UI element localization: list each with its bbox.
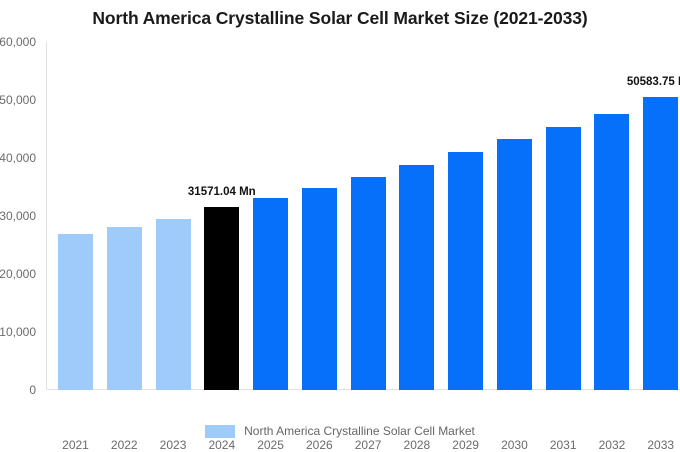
bar-2024[interactable] (204, 207, 239, 390)
y-axis-tick-label: 40,000 (0, 151, 36, 165)
y-axis-tick-label: 50,000 (0, 93, 36, 107)
y-axis-tick-label: 60,000 (0, 35, 36, 49)
bar-2027[interactable] (351, 177, 386, 390)
y-axis-tick-label: 30,000 (0, 209, 36, 223)
legend-label: North America Crystalline Solar Cell Mar… (244, 424, 475, 438)
bar-2033[interactable] (643, 97, 678, 390)
legend-swatch-icon (205, 425, 235, 438)
chart-legend: North America Crystalline Solar Cell Mar… (0, 424, 680, 438)
bar-2022[interactable] (107, 227, 142, 390)
bar-2021[interactable] (58, 234, 93, 390)
bar-2030[interactable] (497, 139, 532, 390)
bar-2029[interactable] (448, 152, 483, 390)
plot-area: 31571.04 Mn50583.75 Mn 20212022202320242… (46, 42, 680, 390)
bar-2025[interactable] (253, 198, 288, 390)
bar-2031[interactable] (546, 127, 581, 390)
value-label-2024: 31571.04 Mn (188, 186, 256, 198)
bar-2026[interactable] (302, 188, 337, 390)
y-axis-tick-label: 10,000 (0, 325, 36, 339)
bar-2023[interactable] (156, 219, 191, 390)
chart-title: North America Crystalline Solar Cell Mar… (0, 8, 680, 29)
y-axis-tick-label: 20,000 (0, 267, 36, 281)
chart-container: North America Crystalline Solar Cell Mar… (0, 0, 680, 450)
value-label-2033: 50583.75 Mn (627, 76, 680, 88)
y-axis-tick-label: 0 (0, 383, 36, 397)
bar-2032[interactable] (594, 114, 629, 390)
bar-2028[interactable] (399, 165, 434, 390)
y-axis-line (46, 42, 47, 390)
